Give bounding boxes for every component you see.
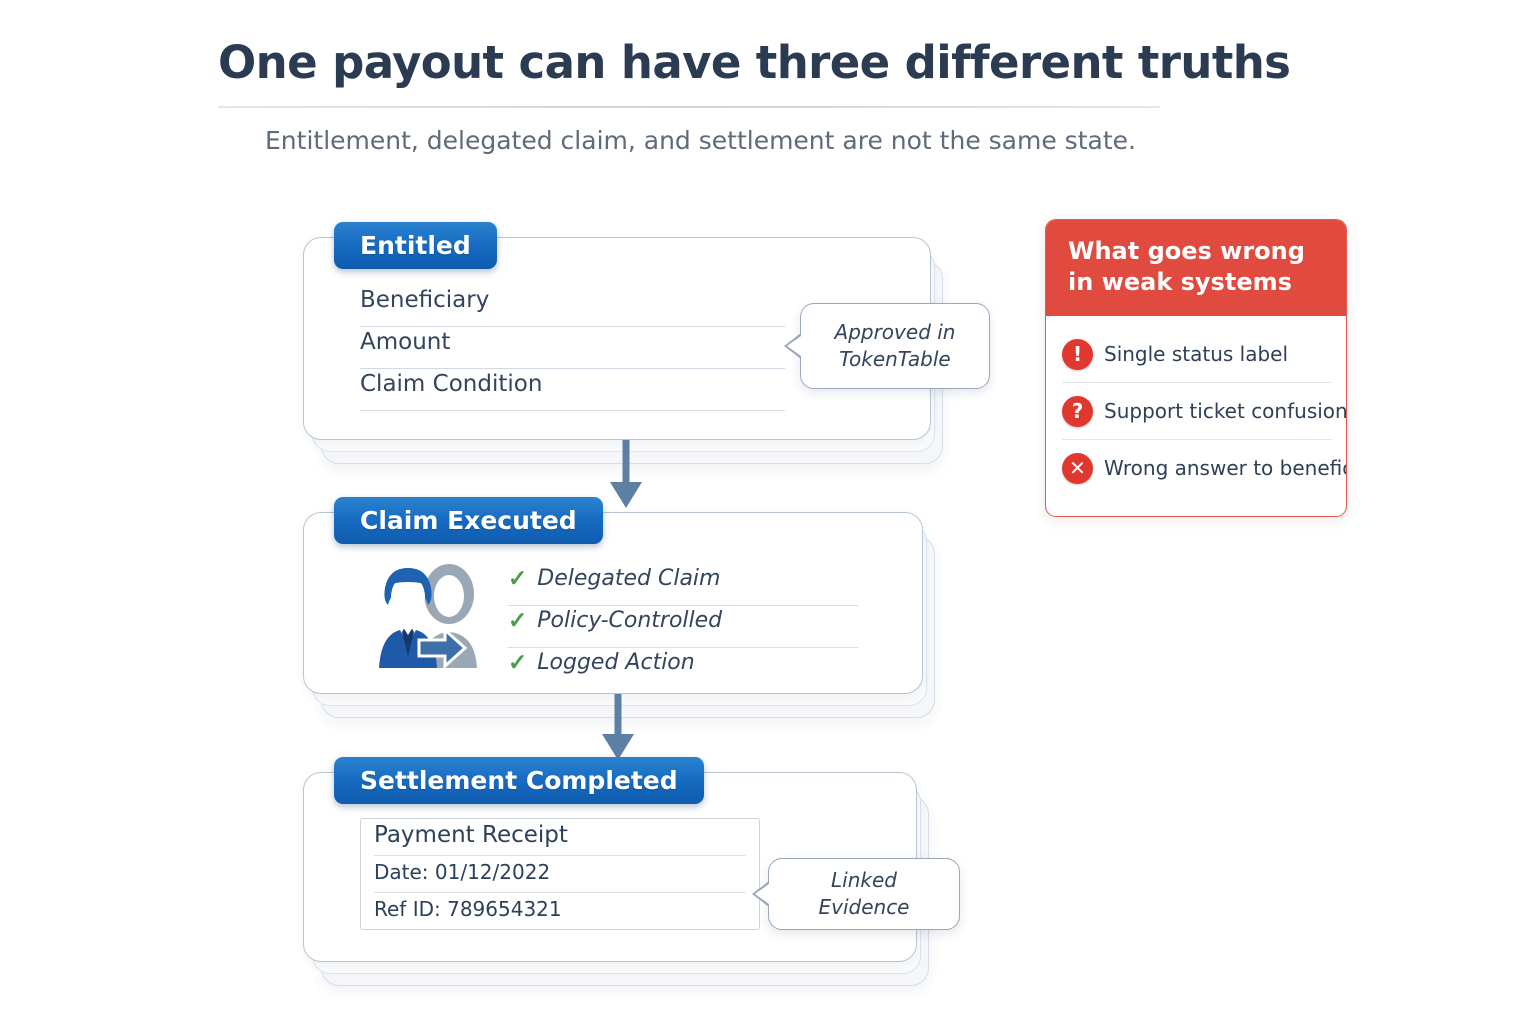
callout-line-2: TokenTable [815, 346, 975, 373]
panel-what-goes-wrong: What goes wrong in weak systems ! Single… [1045, 219, 1347, 517]
field-label-claim-condition: Claim Condition [360, 369, 542, 399]
connector-arrow-1 [600, 440, 652, 512]
x-cross-icon: ✕ [1062, 453, 1093, 484]
check-icon: ✓ [508, 648, 527, 677]
check-icon: ✓ [508, 606, 527, 635]
panel-title-line-2: in weak systems [1068, 267, 1326, 298]
card-header-tab-entitled: Entitled [334, 222, 497, 269]
check-label-policy-controlled: Policy-Controlled [537, 606, 722, 635]
receipt-ref-id: Ref ID: 789654321 [374, 893, 562, 925]
page-subtitle: Entitlement, delegated claim, and settle… [265, 126, 1136, 155]
panel-title-line-1: What goes wrong [1068, 236, 1326, 267]
panel-header: What goes wrong in weak systems [1046, 220, 1346, 316]
claim-check-list: ✓ Delegated Claim ✓ Policy-Controlled ✓ … [508, 564, 858, 689]
list-item: Amount [360, 327, 785, 369]
list-item: ! Single status label [1062, 326, 1332, 383]
field-label-beneficiary: Beneficiary [360, 285, 489, 315]
entitlement-field-list: Beneficiary Amount Claim Condition [360, 285, 785, 411]
list-item: ✓ Logged Action [508, 648, 858, 689]
panel-item-label-single-status-label: Single status label [1104, 342, 1288, 366]
connector-arrow-2 [592, 694, 644, 764]
payment-receipt-box: Payment Receipt Date: 01/12/2022 Ref ID:… [360, 818, 760, 930]
receipt-date-row: Date: 01/12/2022 [374, 856, 746, 893]
callout-linked-evidence: Linked Evidence [768, 858, 960, 930]
list-item: ✕ Wrong answer to beneficiary [1062, 440, 1332, 496]
delegation-people-icon [361, 560, 501, 670]
check-icon: ✓ [508, 564, 527, 593]
panel-item-list: ! Single status label ? Support ticket c… [1046, 316, 1346, 506]
card-header-tab-settlement-completed: Settlement Completed [334, 757, 704, 804]
callout-approved-in-tokentable: Approved in TokenTable [800, 303, 990, 389]
callout-tail-icon [752, 881, 769, 907]
list-item: Claim Condition [360, 369, 785, 411]
list-item: ✓ Delegated Claim [508, 564, 858, 606]
exclamation-icon: ! [1062, 339, 1093, 370]
list-item: ✓ Policy-Controlled [508, 606, 858, 648]
callout-tail-icon [784, 333, 801, 359]
card-header-tab-claim-executed: Claim Executed [334, 497, 603, 544]
panel-item-label-wrong-answer-to-beneficiary: Wrong answer to beneficiary [1104, 456, 1347, 480]
receipt-date: Date: 01/12/2022 [374, 856, 550, 888]
receipt-title-row: Payment Receipt [374, 819, 746, 856]
check-label-delegated-claim: Delegated Claim [537, 564, 720, 593]
list-item: Beneficiary [360, 285, 785, 327]
callout-line-1: Linked Evidence [783, 867, 945, 921]
infographic-canvas: One payout can have three different trut… [0, 0, 1536, 1024]
title-divider [218, 106, 1160, 108]
page-title: One payout can have three different trut… [218, 36, 1162, 89]
panel-item-label-support-ticket-confusion: Support ticket confusion [1104, 399, 1347, 423]
receipt-ref-row: Ref ID: 789654321 [374, 893, 746, 929]
check-label-logged-action: Logged Action [537, 648, 694, 677]
field-label-amount: Amount [360, 327, 450, 357]
question-mark-icon: ? [1062, 396, 1093, 427]
list-item: ? Support ticket confusion [1062, 383, 1332, 440]
receipt-title: Payment Receipt [374, 819, 568, 851]
callout-line-1: Approved in [815, 319, 975, 346]
